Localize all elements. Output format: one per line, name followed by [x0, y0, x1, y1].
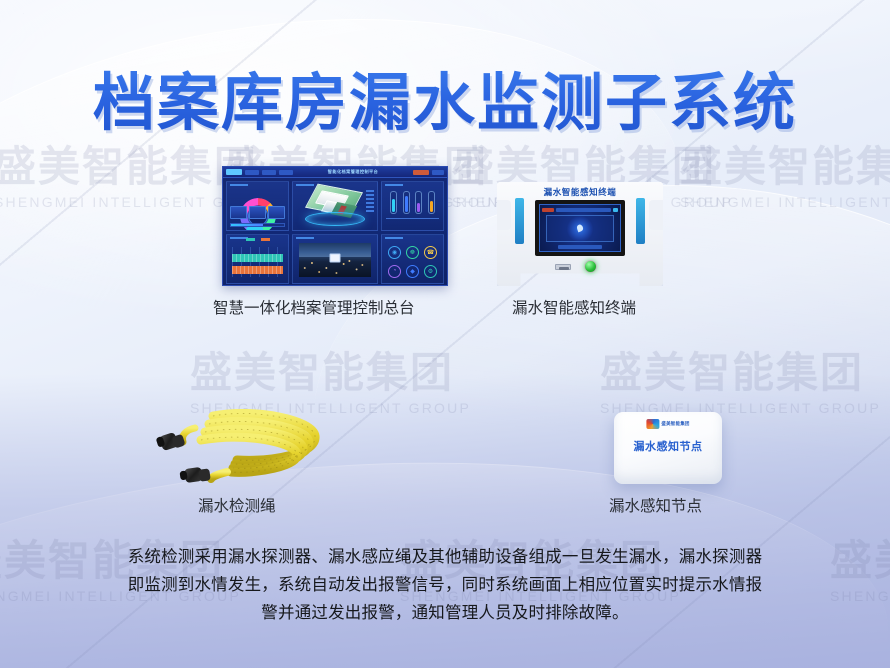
terminal-ui-footer-bar — [558, 245, 603, 249]
bar-column — [390, 191, 397, 214]
dashboard-gauge-panel: 86 — [226, 181, 289, 231]
terminal-device-title: 漏水智能感知终端 — [497, 186, 663, 198]
watermark-en: SHENGMEI INTELLIGENT GROUP — [680, 195, 890, 209]
dashboard-area-chart-panel — [226, 234, 289, 284]
area-chart — [232, 247, 283, 277]
caption-terminal: 漏水智能感知终端 — [512, 296, 636, 318]
dashboard-user-badge — [432, 170, 444, 175]
dashboard-3d-model-panel — [292, 181, 378, 231]
page-title: 档案库房漏水监测子系统 — [0, 52, 890, 142]
terminal-ui-logo-icon — [542, 208, 554, 212]
dashboard-icon-grid-panel: ◉ ☸ ☎ ◔ ◆ ⚙ — [381, 234, 444, 284]
photo-overlay-icon — [330, 253, 341, 262]
archive-building-model — [303, 184, 367, 228]
rope-coils — [183, 413, 316, 479]
dashboard-right-column: ◉ ☸ ☎ ◔ ◆ ⚙ — [381, 181, 444, 284]
node-brand-text: 盛美智能集团 — [661, 421, 689, 427]
brand-mark-icon — [646, 419, 659, 429]
terminal-power-indicator — [584, 260, 597, 273]
panel-tick-marks — [366, 190, 374, 212]
dashboard-nav-item — [245, 170, 259, 175]
dashboard-nav-item — [262, 170, 276, 175]
watermark-cn: 盛美智能集团 — [190, 352, 471, 394]
legend-swatch-humidity — [261, 238, 270, 241]
chart-band-temperature — [232, 254, 283, 262]
terminal-notch-right — [649, 200, 663, 230]
terminal-accent-strip-left — [515, 198, 524, 244]
watermark-en: SHENGMEI INTELLIGENT GROUP — [830, 589, 890, 603]
terminal-notch-left — [497, 200, 511, 230]
terminal-accent-strip-right — [636, 198, 645, 244]
description-line-1: 系统检测采用漏水探测器、漏水感应绳及其他辅助设备组成一旦发生漏水，漏水探测器 — [88, 543, 802, 571]
function-icon-maintenance: ⚙ — [424, 265, 437, 278]
bar-column — [403, 191, 410, 214]
dashboard-nav-item — [279, 170, 293, 175]
dashboard-alarm-badge — [413, 170, 429, 175]
description-line-2: 即监测到水情发生，系统自动发出报警信号，同时系统画面上相应位置实时提示水情报 — [88, 571, 802, 599]
watermark: 盛美智能集团 SHENGMEI INTELLIGENT GROUP — [830, 540, 890, 603]
gauge-stat-row — [230, 206, 285, 219]
dashboard-center-column — [292, 181, 378, 284]
terminal-ui-topbar — [542, 207, 618, 212]
function-icon-access: ◔ — [388, 265, 401, 278]
watermark: 盛美智能集团 SHENGMEI INTELLIGENT GROUP — [600, 352, 881, 415]
bar-column — [428, 191, 435, 214]
chart-band-humidity — [232, 266, 283, 274]
dashboard-left-column: 86 — [226, 181, 289, 284]
function-icon-environment: ☸ — [406, 246, 419, 259]
rope-illustration — [155, 402, 345, 488]
description-line-3: 警并通过发出报警，通知管理人员及时排除故障。 — [88, 599, 802, 627]
terminal-ui-title-bar — [556, 208, 611, 212]
function-icon-grid: ◉ ☸ ☎ ◔ ◆ ⚙ — [386, 244, 439, 280]
watermark-cn: 盛美智能集团 — [680, 146, 890, 188]
node-brand-logo: 盛美智能集团 — [646, 419, 689, 429]
dashboard-title: 智能化档案管理控制平台 — [296, 169, 410, 175]
watermark-cn: 盛美智能集团 — [600, 352, 881, 394]
console-dashboard-image: 智能化档案管理控制平台 86 — [222, 166, 448, 286]
caption-console: 智慧一体化档案管理控制总台 — [213, 296, 415, 318]
terminal-ui-panel — [546, 215, 614, 242]
caption-node: 漏水感知节点 — [609, 494, 702, 516]
terminal-usb-port — [555, 264, 571, 270]
bar-column — [415, 191, 422, 214]
watermark: 盛美智能集团 SHENGMEI INTELLIGENT GROUP — [680, 146, 890, 209]
function-icon-fire: ◆ — [406, 265, 419, 278]
leak-detection-rope-image — [155, 402, 345, 488]
terminal-screen-ui — [539, 204, 621, 252]
dashboard-logo-icon — [226, 169, 242, 175]
progress-bar — [230, 223, 285, 227]
node-device-label: 漏水感知节点 — [614, 438, 722, 454]
leak-sensing-terminal-image: 漏水智能感知终端 — [497, 182, 663, 286]
dashboard-bar-chart-panel — [381, 181, 444, 231]
stat-box — [249, 206, 266, 219]
dashboard-header: 智能化档案管理控制平台 — [223, 167, 447, 178]
night-city-photo — [299, 243, 371, 277]
chart-legend — [246, 238, 270, 241]
rope-connector-lower — [179, 467, 210, 483]
legend-swatch-temperature — [246, 238, 255, 241]
function-icon-alarm: ☎ — [424, 246, 437, 259]
dashboard-video-panel — [292, 234, 378, 284]
stat-box — [230, 206, 247, 219]
dashboard-body: 86 — [223, 178, 447, 286]
caption-rope: 漏水检测绳 — [198, 494, 276, 516]
stat-box — [268, 206, 285, 219]
description-paragraph: 系统检测采用漏水探测器、漏水感应绳及其他辅助设备组成一旦发生漏水，漏水探测器 即… — [88, 543, 802, 627]
function-icon-person: ◉ — [388, 246, 401, 259]
watermark-cn: 盛美智能集团 — [830, 540, 890, 582]
terminal-screen — [535, 200, 625, 256]
bar-chart-axis — [386, 218, 439, 219]
leak-sensing-node-image: 盛美智能集团 漏水感知节点 — [614, 412, 722, 484]
3d-model-icon — [293, 182, 377, 230]
model-platform-ring — [305, 212, 365, 226]
bar-chart — [387, 191, 438, 214]
terminal-ui-status-icon — [613, 208, 618, 212]
